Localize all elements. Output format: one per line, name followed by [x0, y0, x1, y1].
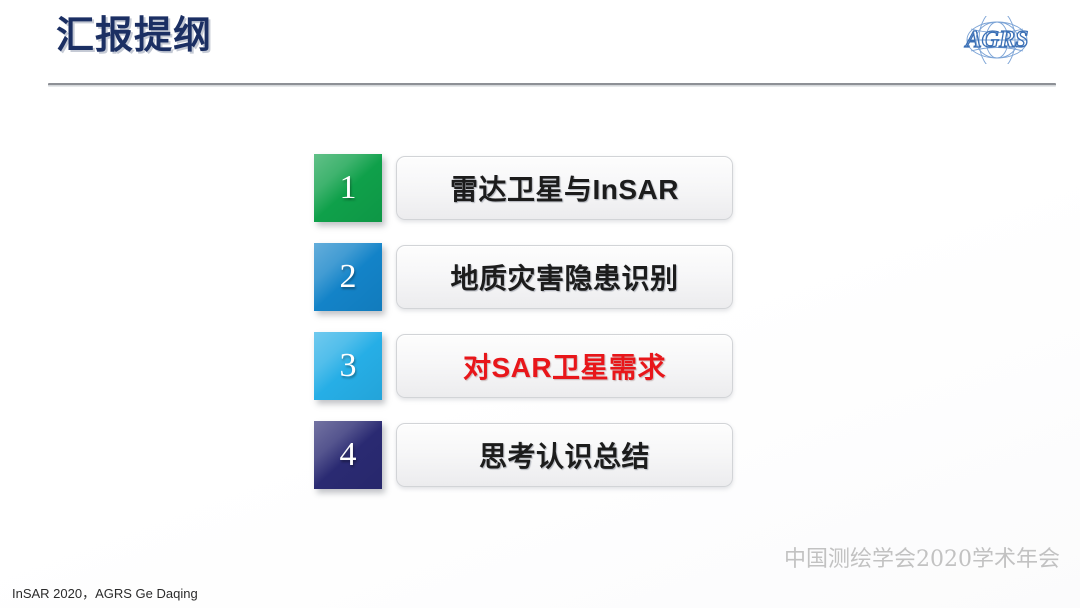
page-title: 汇报提纲: [56, 17, 212, 55]
outline-label-box-3[interactable]: 对SAR卫星需求: [396, 334, 733, 398]
presentation-slide: 汇报提纲 AGRS 1 雷达卫星与InSAR 2: [0, 0, 1080, 608]
outline-number-box-4: 4: [314, 421, 382, 489]
slide-meta-footer: InSAR 2020，AGRS Ge Daqing: [12, 583, 198, 602]
outline-number-3: 3: [314, 332, 382, 400]
outline-number-1: 1: [314, 154, 382, 222]
title-divider: [48, 83, 1056, 87]
outline-number-2: 2: [314, 243, 382, 311]
agrs-logo: AGRS: [949, 16, 1045, 64]
outline-label-box-1[interactable]: 雷达卫星与InSAR: [396, 156, 733, 220]
outline-number-4: 4: [314, 421, 382, 489]
outline-label-4: 思考认识总结: [479, 435, 650, 475]
outline-label-box-2[interactable]: 地质灾害隐患识别: [396, 245, 733, 309]
outline-label-box-4[interactable]: 思考认识总结: [396, 423, 733, 487]
outline-number-box-2: 2: [314, 243, 382, 311]
outline-number-box-3: 3: [314, 332, 382, 400]
conference-footer: 中国测绘学会2020学术年会: [784, 541, 1060, 573]
outline-label-1: 雷达卫星与InSAR: [450, 168, 679, 208]
outline-label-2: 地质灾害隐患识别: [450, 257, 678, 297]
agrs-logo-text: AGRS: [964, 27, 1029, 53]
outline-number-box-1: 1: [314, 154, 382, 222]
agrs-logo-icon: AGRS: [949, 16, 1045, 64]
outline-label-3: 对SAR卫星需求: [463, 346, 666, 386]
